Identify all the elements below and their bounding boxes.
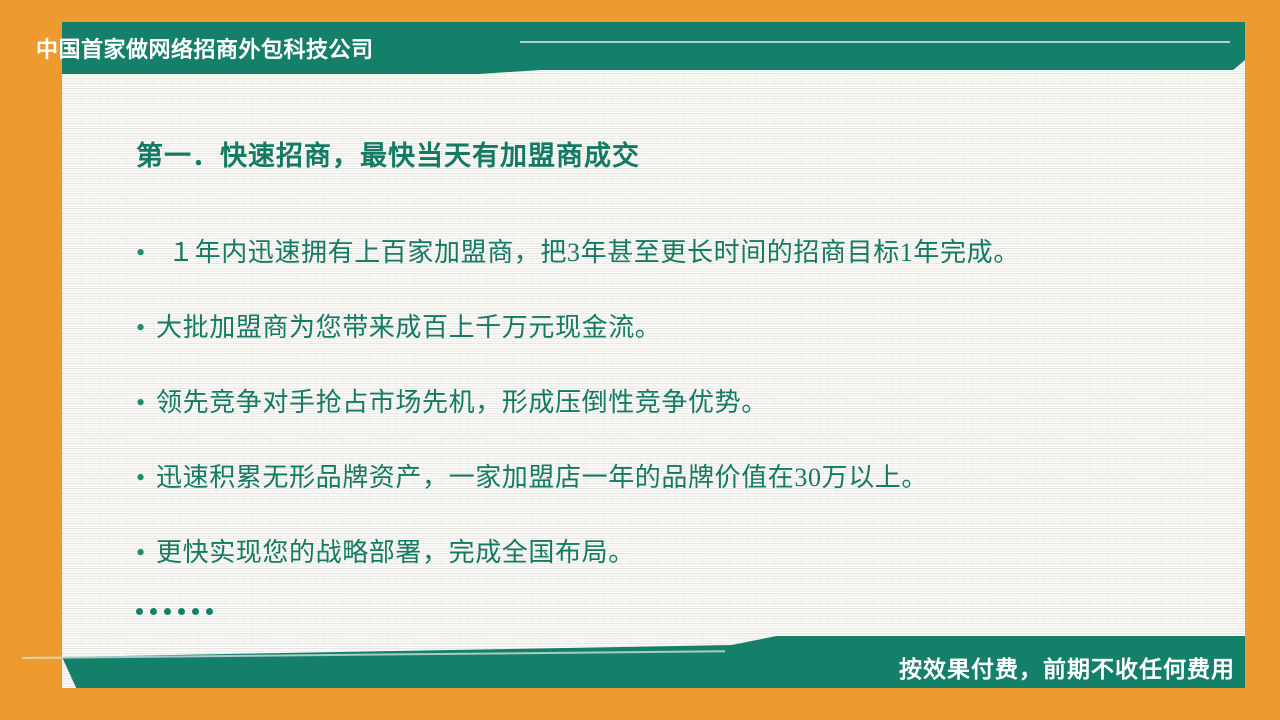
bullet-list: • １年内迅速拥有上百家加盟商，把3年甚至更长时间的招商目标1年完成。 • 大批…	[136, 232, 1226, 607]
bullet-text: 迅速积累无形品牌资产，一家加盟店一年的品牌价值在30万以上。	[156, 457, 1226, 494]
bullet-text: １年内迅速拥有上百家加盟商，把3年甚至更长时间的招商目标1年完成。	[156, 232, 1226, 269]
slide-content-area: 第一．快速招商，最快当天有加盟商成交 • １年内迅速拥有上百家加盟商，把3年甚至…	[62, 96, 1245, 641]
list-item: • １年内迅速拥有上百家加盟商，把3年甚至更长时间的招商目标1年完成。	[136, 232, 1226, 307]
list-item: • 更快实现您的战略部署，完成全国布局。	[136, 532, 1226, 607]
slide-heading: 第一．快速招商，最快当天有加盟商成交	[136, 134, 640, 173]
list-item: • 领先竞争对手抢占市场先机，形成压倒性竞争优势。	[136, 382, 1226, 457]
bullet-point-icon: •	[136, 240, 156, 266]
ellipsis-dot	[206, 608, 213, 615]
bullet-text: 领先竞争对手抢占市场先机，形成压倒性竞争优势。	[156, 382, 1226, 419]
bullet-text: 大批加盟商为您带来成百上千万元现金流。	[156, 307, 1226, 344]
header-company-title: 中国首家做网络招商外包科技公司	[36, 32, 374, 64]
bullet-point-icon: •	[136, 465, 156, 491]
ellipsis-dot	[192, 608, 199, 615]
ellipsis-dot	[178, 608, 185, 615]
bullet-point-icon: •	[136, 315, 156, 341]
list-item: • 大批加盟商为您带来成百上千万元现金流。	[136, 307, 1226, 382]
ellipsis-continuation	[136, 608, 213, 615]
header-hairline-divider	[520, 41, 1230, 43]
list-item: • 迅速积累无形品牌资产，一家加盟店一年的品牌价值在30万以上。	[136, 457, 1226, 532]
ellipsis-dot	[136, 608, 143, 615]
bullet-point-icon: •	[136, 390, 156, 416]
ellipsis-dot	[164, 608, 171, 615]
ellipsis-dot	[150, 608, 157, 615]
footer-tagline: 按效果付费，前期不收任何费用	[899, 650, 1235, 684]
slide-canvas: 中国首家做网络招商外包科技公司 第一．快速招商，最快当天有加盟商成交 • １年内…	[0, 0, 1280, 720]
bullet-point-icon: •	[136, 540, 156, 566]
bullet-text: 更快实现您的战略部署，完成全国布局。	[156, 532, 1226, 569]
